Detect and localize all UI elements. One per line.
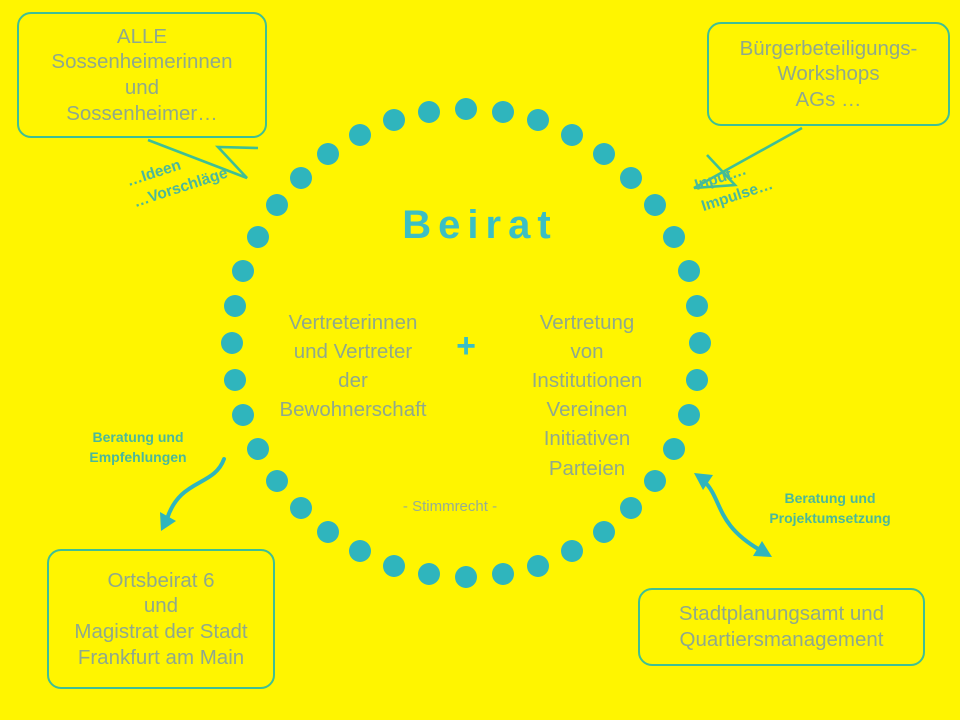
ring-dot	[455, 566, 477, 588]
ring-dot	[686, 295, 708, 317]
ring-dot	[561, 124, 583, 146]
ring-dot	[686, 369, 708, 391]
bubble-all-residents: ALLE Sossenheimerinnen und Sossenheimer…	[17, 12, 267, 138]
ring-dot	[266, 470, 288, 492]
column-bewohnerschaft: Vertreterinnen und Vertreter der Bewohne…	[262, 308, 444, 424]
ring-dot	[290, 167, 312, 189]
ring-dot	[689, 332, 711, 354]
ring-dot	[561, 540, 583, 562]
ring-dot	[527, 109, 549, 131]
ring-dot	[221, 332, 243, 354]
arrow-head-bottom-left	[160, 512, 176, 531]
plus-icon: +	[444, 327, 488, 366]
label-beratung-projektumsetzung: Beratung und Projektumsetzung	[742, 488, 918, 529]
ring-dot	[349, 540, 371, 562]
ring-dot	[455, 98, 477, 120]
ring-dot	[232, 260, 254, 282]
label-beratung-empfehlungen: Beratung und Empfehlungen	[58, 427, 218, 468]
ring-dot	[290, 497, 312, 519]
bubble-stadtplanungsamt: Stadtplanungsamt und Quartiersmanagement	[638, 588, 925, 666]
arrow-head-bottom-right-up	[694, 473, 713, 490]
ring-dot	[678, 404, 700, 426]
diagram-canvas: ALLE Sossenheimerinnen und Sossenheimer……	[0, 0, 960, 720]
arrow-curve-bottom-left	[167, 459, 224, 519]
ring-dot	[418, 563, 440, 585]
ring-dot	[678, 260, 700, 282]
ring-dot	[593, 143, 615, 165]
ring-dot	[224, 369, 246, 391]
ring-dot	[492, 101, 514, 123]
bubble-ortsbeirat-magistrat: Ortsbeirat 6 und Magistrat der Stadt Fra…	[47, 549, 275, 689]
ring-dot	[418, 101, 440, 123]
ring-dot	[317, 143, 339, 165]
ring-dot	[492, 563, 514, 585]
ring-dot	[383, 109, 405, 131]
column-institutionen: Vertretung von Institutionen Vereinen In…	[496, 308, 678, 483]
arrow-head-bottom-right-down	[753, 541, 772, 557]
ring-dot	[232, 404, 254, 426]
ring-dot	[349, 124, 371, 146]
page-title: Beirat	[0, 203, 960, 248]
ring-dot	[317, 521, 339, 543]
bubble-participation-workshops: Bürgerbeteiligungs- Workshops AGs …	[707, 22, 950, 126]
ring-dot	[247, 438, 269, 460]
ring-dot	[620, 167, 642, 189]
ring-dot	[527, 555, 549, 577]
ring-dot	[224, 295, 246, 317]
ring-dot	[620, 497, 642, 519]
ring-dot	[593, 521, 615, 543]
footnote-stimmrecht: - Stimmrecht -	[350, 498, 550, 515]
ring-dot	[383, 555, 405, 577]
